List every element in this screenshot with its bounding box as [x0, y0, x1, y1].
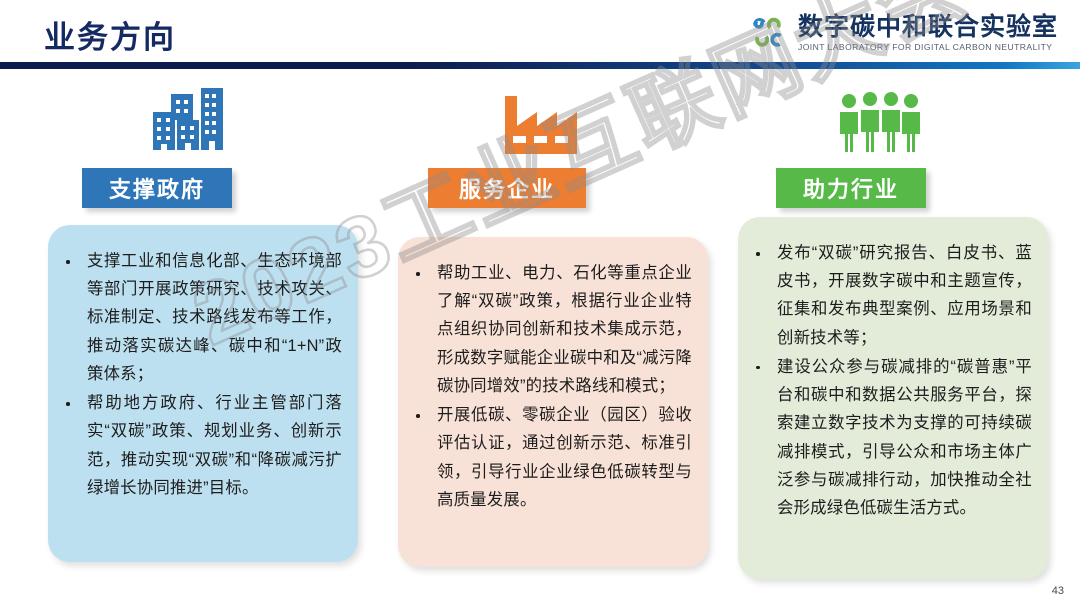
column-government: 支撑政府 支撑工业和信息化部、生态环境部等部门开展政策研究、技术攻关、标准制定、… — [20, 70, 360, 607]
logo-text-block: 数字碳中和联合实验室 JOINT LABORATORY FOR DIGITAL … — [798, 14, 1058, 53]
card-enterprise: 帮助工业、电力、石化等重点企业了解“双碳”政策，根据行业企业特点组织协同创新和技… — [398, 237, 708, 567]
card-government: 支撑工业和信息化部、生态环境部等部门开展政策研究、技术攻关、标准制定、技术路线发… — [48, 225, 358, 562]
list-item: 支撑工业和信息化部、生态环境部等部门开展政策研究、技术攻关、标准制定、技术路线发… — [58, 247, 342, 388]
business-direction-columns: 支撑政府 支撑工业和信息化部、生态环境部等部门开展政策研究、技术攻关、标准制定、… — [0, 70, 1080, 607]
buildings-icon — [20, 82, 360, 154]
bullet-list-industry: 发布“双碳”研究报告、白皮书、蓝皮书，开展数字碳中和主题宣传，征集和发布典型案例… — [748, 239, 1032, 522]
list-item: 帮助地方政府、行业主管部门落实“双碳”政策、规划业务、创新示范，推动实现“双碳”… — [58, 389, 342, 502]
column-label-enterprise[interactable]: 服务企业 — [428, 168, 586, 208]
column-enterprise: 服务企业 帮助工业、电力、石化等重点企业了解“双碳”政策，根据行业企业特点组织协… — [370, 70, 710, 607]
people-group-icon — [710, 82, 1050, 154]
list-item: 发布“双碳”研究报告、白皮书、蓝皮书，开展数字碳中和主题宣传，征集和发布典型案例… — [748, 239, 1032, 352]
logo-name-cn: 数字碳中和联合实验室 — [798, 14, 1058, 40]
bullet-list-government: 支撑工业和信息化部、生态环境部等部门开展政策研究、技术攻关、标准制定、技术路线发… — [58, 247, 342, 502]
column-label-government[interactable]: 支撑政府 — [82, 168, 232, 208]
page-title: 业务方向 — [44, 12, 176, 57]
list-item: 帮助工业、电力、石化等重点企业了解“双碳”政策，根据行业企业特点组织协同创新和技… — [408, 259, 692, 400]
four-petal-carbon-logo-icon — [747, 12, 789, 54]
organization-logo: 数字碳中和联合实验室 JOINT LABORATORY FOR DIGITAL … — [747, 8, 1058, 58]
bullet-list-enterprise: 帮助工业、电力、石化等重点企业了解“双碳”政策，根据行业企业特点组织协同创新和技… — [408, 259, 692, 514]
logo-name-en: JOINT LABORATORY FOR DIGITAL CARBON NEUT… — [798, 42, 1058, 53]
list-item: 建设公众参与碳减排的“碳普惠”平台和碳中和数据公共服务平台，探索建立数字技术为支… — [748, 353, 1032, 522]
factory-icon — [370, 82, 710, 154]
page-number: 43 — [1052, 585, 1064, 597]
header-divider — [0, 62, 1080, 69]
slide-header: 业务方向 数字碳中和联合实验室 JOINT LABORATORY FOR DIG… — [0, 0, 1080, 68]
list-item: 开展低碳、零碳企业（园区）验收评估认证，通过创新示范、标准引领，引导行业企业绿色… — [408, 401, 692, 514]
column-industry: 助力行业 发布“双碳”研究报告、白皮书、蓝皮书，开展数字碳中和主题宣传，征集和发… — [710, 70, 1050, 607]
card-industry: 发布“双碳”研究报告、白皮书、蓝皮书，开展数字碳中和主题宣传，征集和发布典型案例… — [738, 217, 1048, 579]
column-label-industry[interactable]: 助力行业 — [776, 168, 926, 208]
